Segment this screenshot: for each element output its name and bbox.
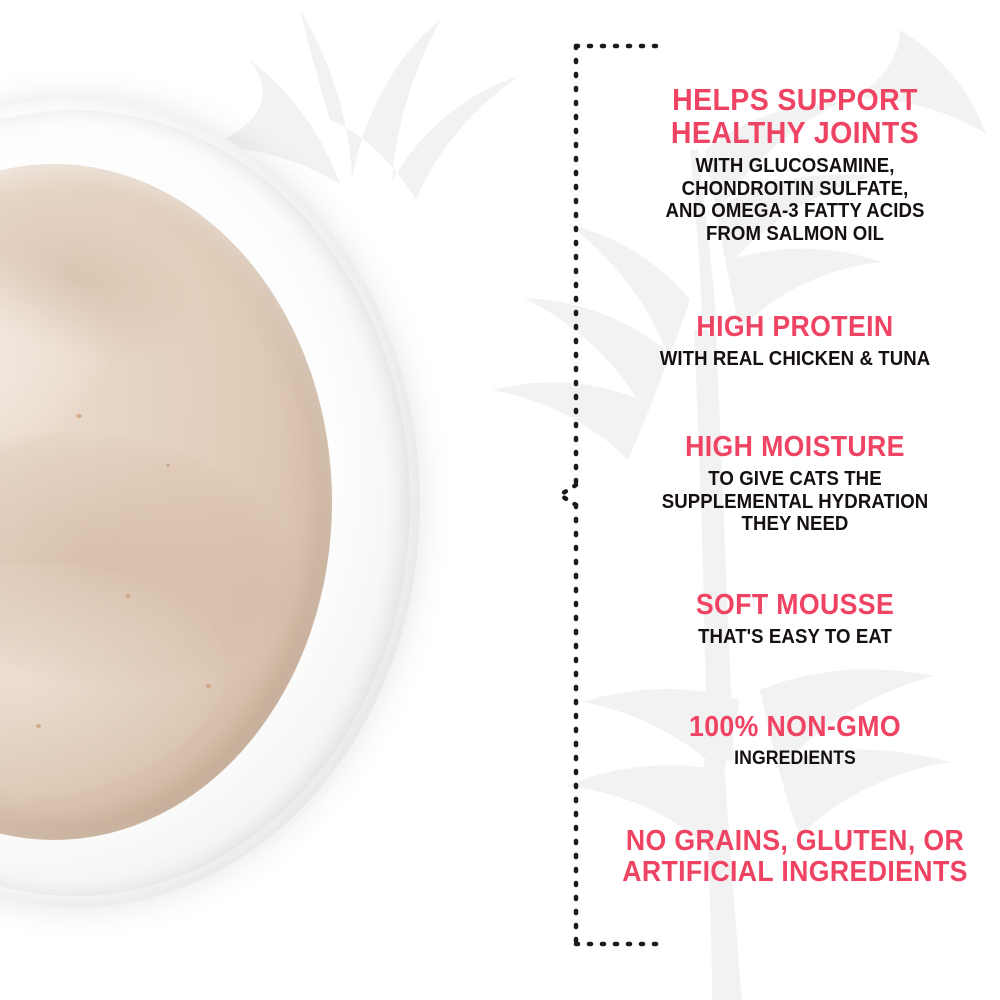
feature-title: 100% NON-GMO (616, 712, 975, 743)
feature-title-line: HIGH PROTEIN (616, 312, 975, 343)
feature-subtitle-line: CHONDROITIN SULFATE, (614, 178, 977, 201)
feature-subtitle: THAT'S EASY TO EAT (614, 626, 977, 649)
feature-subtitle: WITH REAL CHICKEN & TUNA (614, 348, 977, 371)
feature-subtitle: TO GIVE CATS THE SUPPLEMENTAL HYDRATION … (614, 468, 977, 536)
feature-title-line: 100% NON-GMO (616, 712, 975, 743)
feature-title-line: SOFT MOUSSE (616, 590, 975, 621)
product-feature-graphic: HELPS SUPPORT HEALTHY JOINTS WITH GLUCOS… (0, 0, 1000, 1000)
feature-subtitle-line: WITH GLUCOSAMINE, (614, 155, 977, 178)
product-bowl (0, 98, 420, 908)
feature-title-line: HIGH MOISTURE (616, 432, 975, 463)
feature-subtitle: WITH GLUCOSAMINE, CHONDROITIN SULFATE, A… (614, 155, 977, 246)
feature-list: HELPS SUPPORT HEALTHY JOINTS WITH GLUCOS… (600, 84, 990, 934)
feature-subtitle-line: FROM SALMON OIL (614, 223, 977, 246)
feature-item-non-gmo: 100% NON-GMO INGREDIENTS (600, 712, 990, 769)
feature-item-no-grains: NO GRAINS, GLUTEN, OR ARTIFICIAL INGREDI… (600, 826, 990, 892)
feature-item-mousse: SOFT MOUSSE THAT'S EASY TO EAT (600, 590, 990, 649)
feature-subtitle-line: AND OMEGA-3 FATTY ACIDS (614, 200, 977, 223)
mousse-fleck (206, 684, 211, 688)
feature-subtitle-line: THEY NEED (614, 513, 977, 536)
feature-item-moisture: HIGH MOISTURE TO GIVE CATS THE SUPPLEMEN… (600, 432, 990, 536)
feature-item-joints: HELPS SUPPORT HEALTHY JOINTS WITH GLUCOS… (600, 84, 990, 246)
feature-subtitle-line: SUPPLEMENTAL HYDRATION (614, 491, 977, 514)
feature-title-line: HELPS SUPPORT (616, 84, 975, 117)
feature-title: HELPS SUPPORT HEALTHY JOINTS (616, 84, 975, 150)
mousse-swirl-center (0, 407, 311, 710)
feature-title: HIGH MOISTURE (616, 432, 975, 463)
mousse-fleck (166, 464, 170, 467)
mousse-fleck (76, 414, 82, 418)
feature-subtitle-line: THAT'S EASY TO EAT (614, 626, 977, 649)
mousse-fleck (36, 724, 41, 728)
mousse-fleck (126, 594, 130, 598)
feature-title-line: ARTIFICIAL INGREDIENTS (616, 857, 975, 888)
mousse-highlight (0, 227, 136, 494)
feature-title: HIGH PROTEIN (616, 312, 975, 343)
feature-title: SOFT MOUSSE (616, 590, 975, 621)
mousse-highlight-lower (0, 542, 237, 826)
feature-subtitle-line: TO GIVE CATS THE (614, 468, 977, 491)
feature-item-protein: HIGH PROTEIN WITH REAL CHICKEN & TUNA (600, 312, 990, 371)
feature-title: NO GRAINS, GLUTEN, OR ARTIFICIAL INGREDI… (616, 826, 975, 887)
feature-title-line: NO GRAINS, GLUTEN, OR (616, 826, 975, 857)
feature-subtitle: INGREDIENTS (614, 748, 977, 770)
feature-subtitle-line: WITH REAL CHICKEN & TUNA (614, 348, 977, 371)
feature-subtitle-line: INGREDIENTS (614, 748, 977, 770)
feature-title-line: HEALTHY JOINTS (616, 117, 975, 150)
